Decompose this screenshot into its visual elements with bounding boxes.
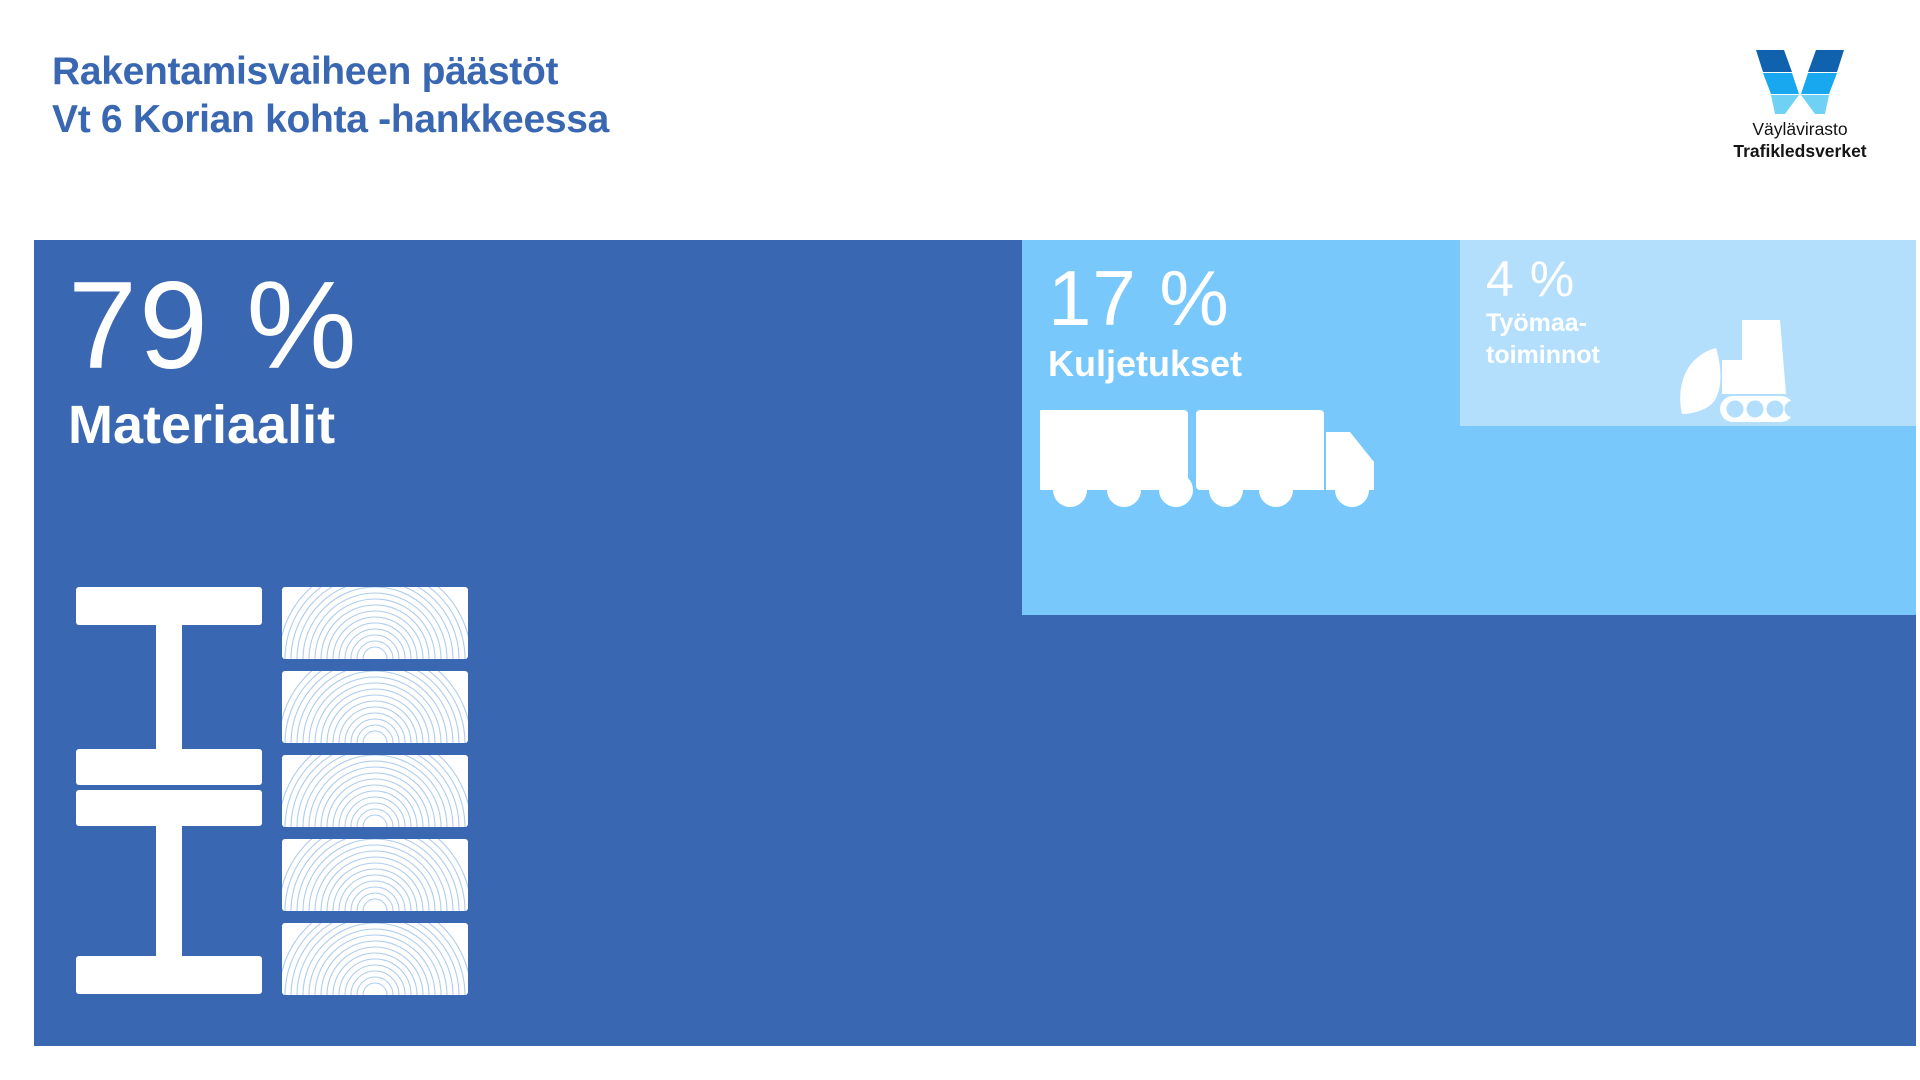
page-title: Rakentamisvaiheen päästöt Vt 6 Korian ko… <box>52 48 609 144</box>
stat-materials: 79 % Materiaalit <box>68 266 359 458</box>
bulldozer-icon <box>1672 296 1800 426</box>
page-title-line-2: Vt 6 Korian kohta -hankkeessa <box>52 96 609 144</box>
stat-sitework-value: 4 % <box>1486 252 1600 306</box>
i-beam-and-timber-planks-icon <box>74 585 494 1005</box>
infographic-page: Rakentamisvaiheen päästöt Vt 6 Korian ko… <box>0 0 1920 1080</box>
stat-transport-label: Kuljetukset <box>1048 342 1242 386</box>
page-title-line-1: Rakentamisvaiheen päästöt <box>52 48 609 96</box>
vaylavirasto-v-logo-icon <box>1700 40 1900 118</box>
logo-name-sv: Trafikledsverket <box>1700 140 1900 162</box>
truck-with-trailer-icon <box>1040 402 1420 510</box>
stat-sitework-label-line-1: Työmaa- <box>1486 308 1600 338</box>
stat-transport-value: 17 % <box>1048 258 1242 338</box>
stat-sitework: 4 % Työmaa- toiminnot <box>1486 252 1600 370</box>
segment-panel-sitework[interactable]: 4 % Työmaa- toiminnot <box>1460 240 1916 426</box>
stat-materials-value: 79 % <box>68 266 359 386</box>
organization-logo: Väylävirasto Trafikledsverket <box>1700 40 1900 162</box>
stat-materials-label: Materiaalit <box>68 392 359 458</box>
stat-sitework-label-line-2: toiminnot <box>1486 340 1600 370</box>
stat-transport: 17 % Kuljetukset <box>1048 258 1242 386</box>
logo-name-fi: Väylävirasto <box>1700 118 1900 140</box>
